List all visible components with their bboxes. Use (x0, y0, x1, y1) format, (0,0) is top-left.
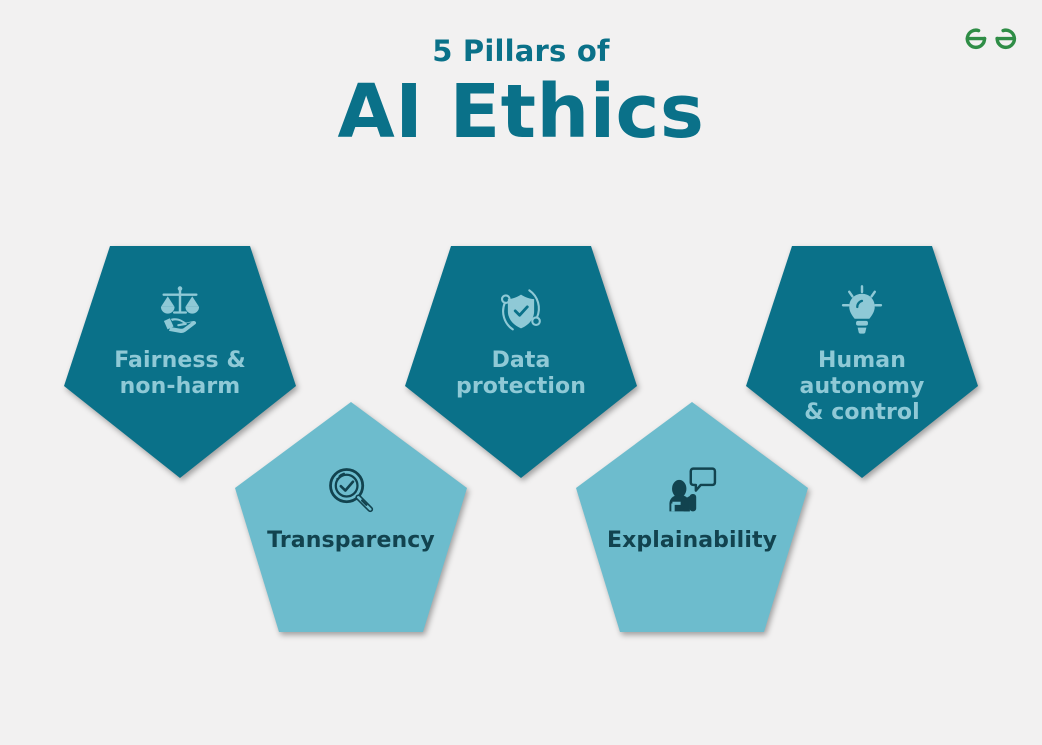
pillar-card-transparency[interactable]: Transparency (233, 400, 469, 636)
pentagon-shape-upright (574, 400, 810, 636)
pillars-container: Fairness & non-harm Data protection (0, 0, 1042, 745)
pentagon-shape-upright (233, 400, 469, 636)
pillar-card-explainability[interactable]: Explainability (574, 400, 810, 636)
